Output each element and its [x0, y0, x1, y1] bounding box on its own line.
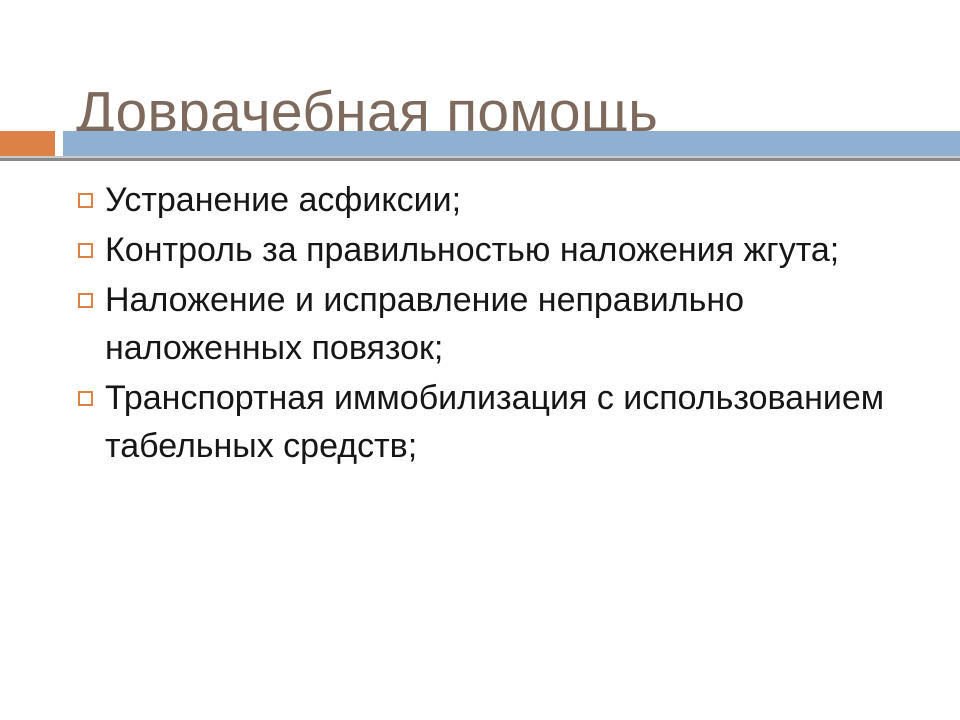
divider-accent-block [0, 131, 55, 156]
list-item: Контроль за правильностью наложения жгут… [70, 226, 900, 274]
title-divider [0, 131, 960, 161]
square-bullet-icon [78, 243, 93, 258]
divider-rule-dark [0, 158, 960, 161]
list-item-label: Транспортная иммобилизация с использован… [105, 374, 900, 470]
list-item: Наложение и исправление неправильно нало… [70, 276, 900, 372]
list-item-label: Наложение и исправление неправильно нало… [105, 276, 900, 372]
divider-bar [63, 131, 960, 156]
list-item: Устранение асфиксии; [70, 176, 900, 224]
list-item-label: Контроль за правильностью наложения жгут… [105, 226, 900, 274]
list-item: Транспортная иммобилизация с использован… [70, 374, 900, 470]
presentation-slide: Доврачебная помощь Устранение асфиксии; … [0, 0, 960, 720]
square-bullet-icon [78, 193, 93, 208]
bullet-list: Устранение асфиксии; Контроль за правиль… [70, 176, 900, 472]
square-bullet-icon [78, 293, 93, 308]
list-item-label: Устранение асфиксии; [105, 176, 900, 224]
square-bullet-icon [78, 391, 93, 406]
